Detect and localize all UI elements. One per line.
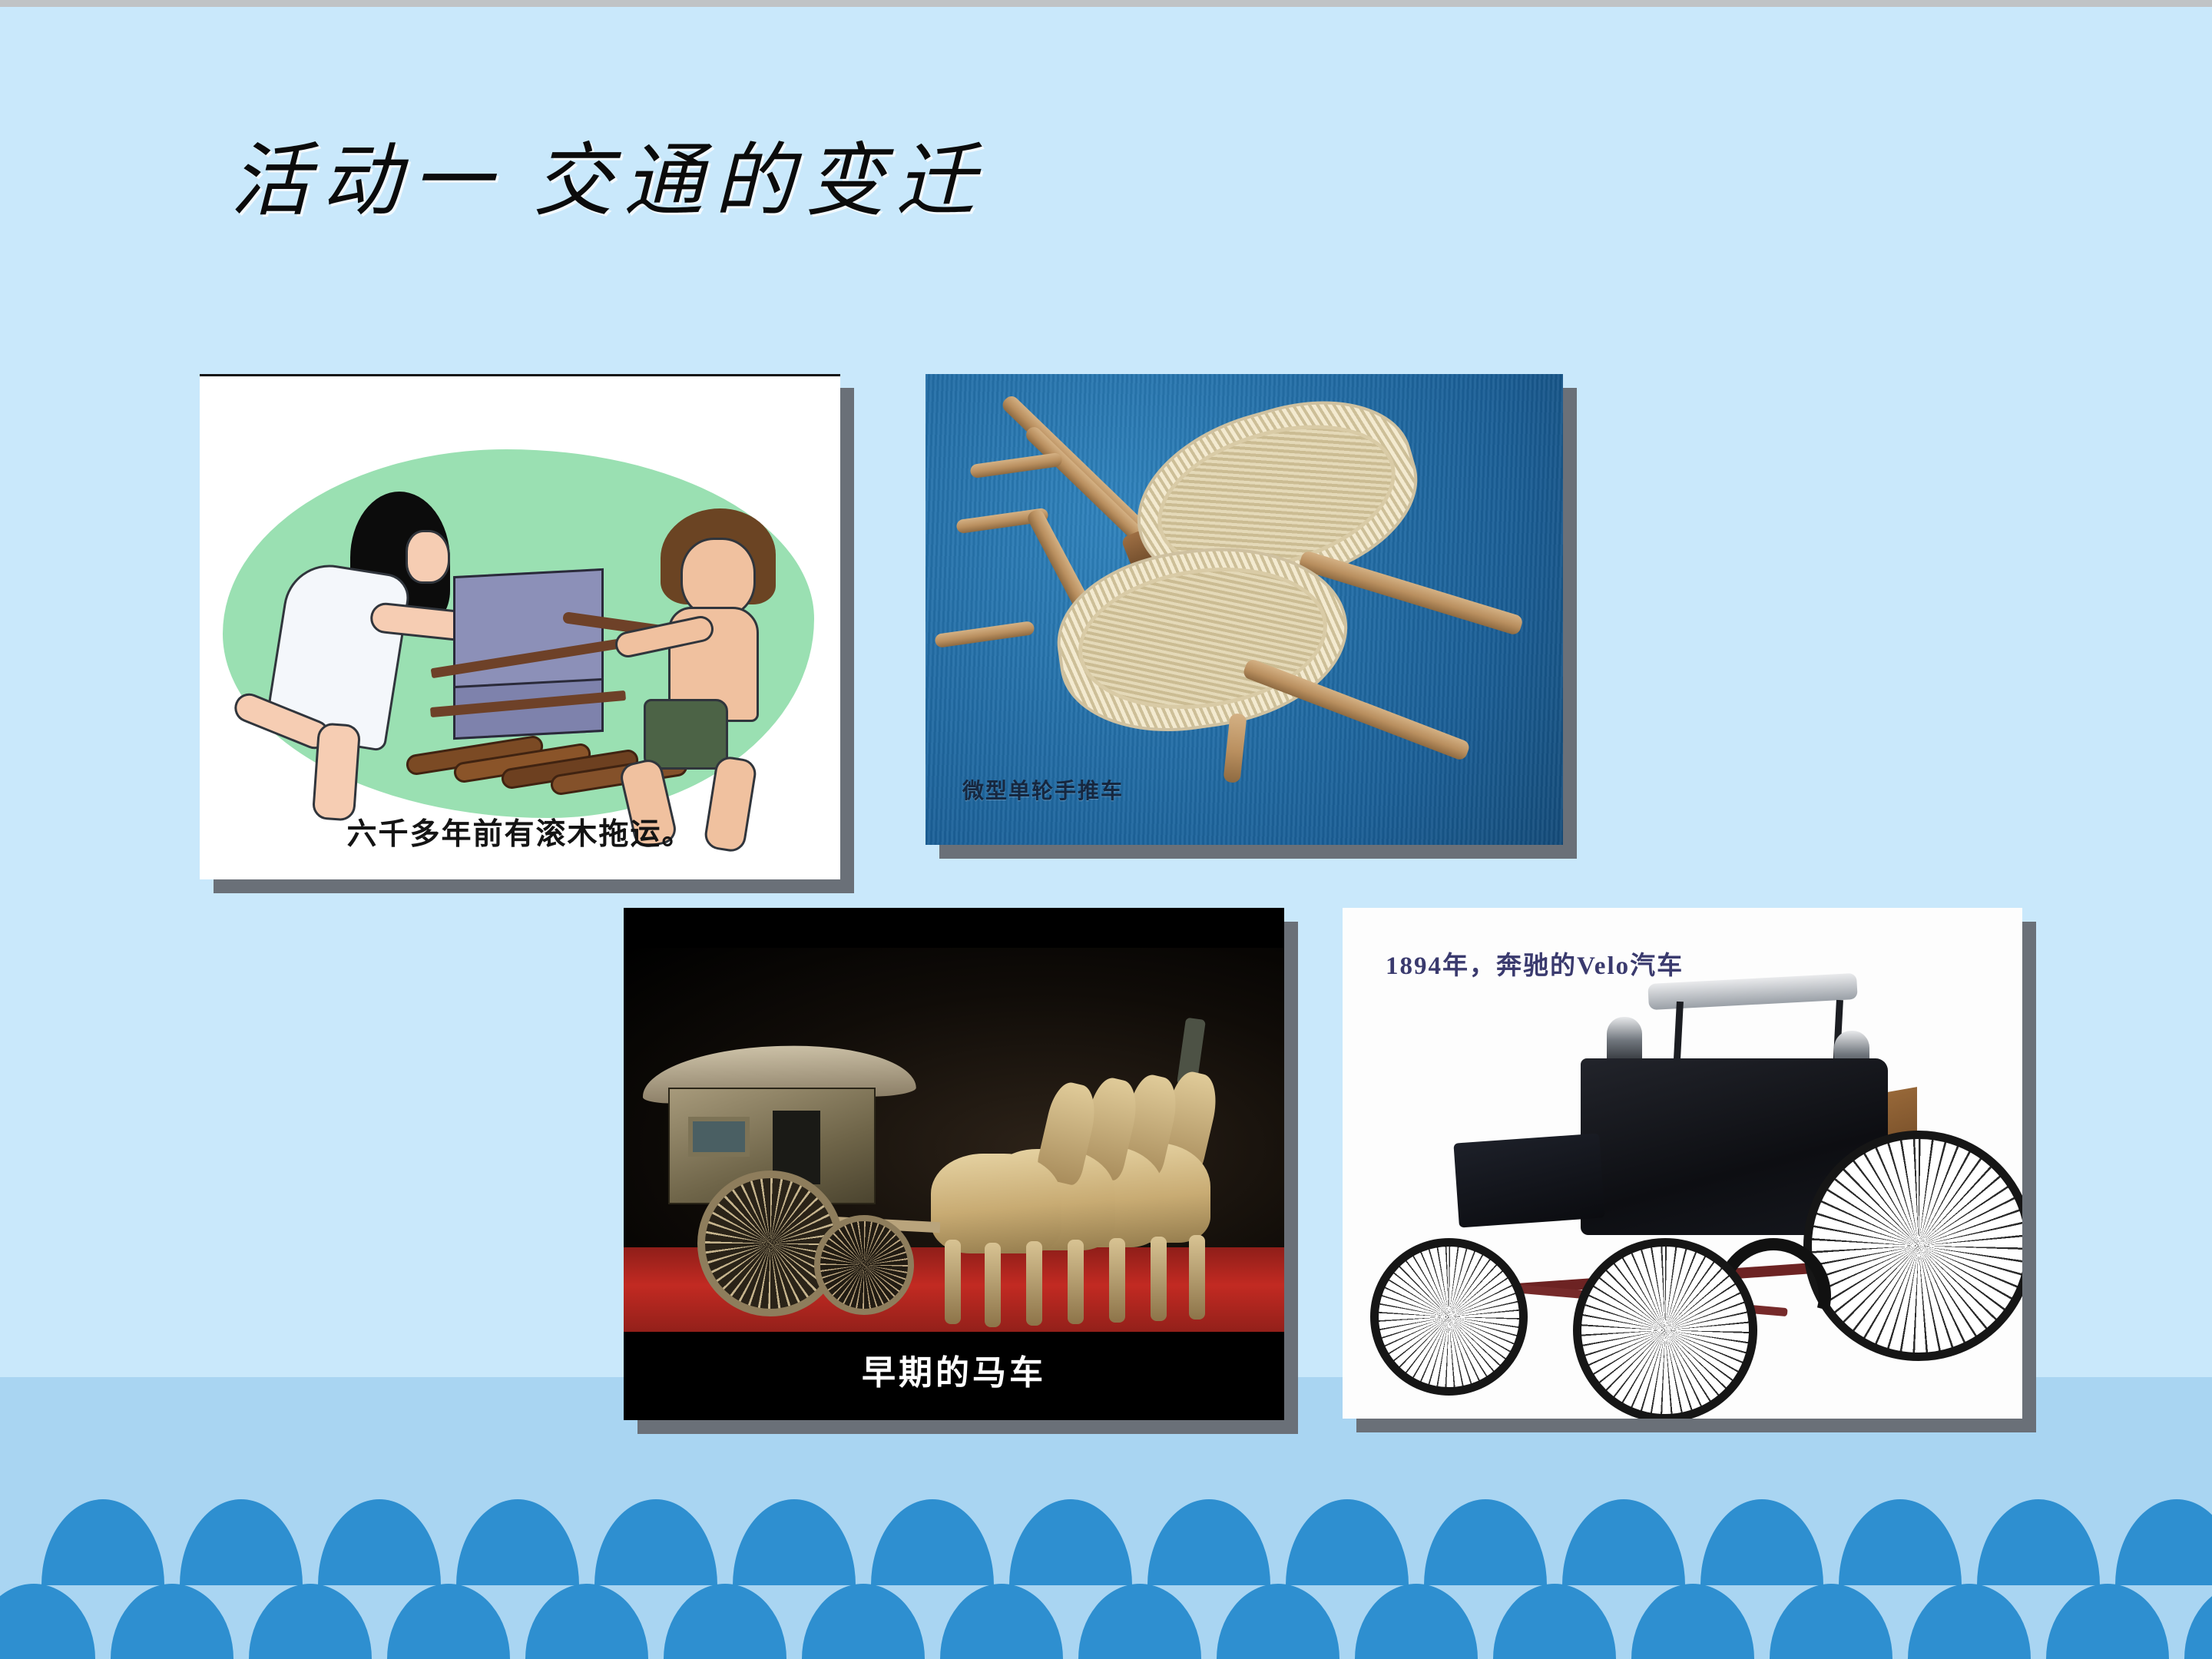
arch-shape [0,1584,95,1659]
card-caption-wheelbarrow: 微型单轮手推车 [962,774,1124,805]
arch-shape [1770,1584,1892,1659]
horse-leg [1151,1237,1167,1321]
arch-shape [871,1499,994,1585]
arch-shape [456,1499,579,1585]
arch-shape [1286,1499,1409,1585]
arch-shape [111,1584,233,1659]
arch-shape [1147,1499,1270,1585]
arch-shape [1424,1499,1547,1585]
arch-shape [1078,1584,1201,1659]
arch-shape [664,1584,786,1659]
horse-leg [985,1243,1001,1327]
arch-shape [1908,1584,2031,1659]
arch-shape [1493,1584,1616,1659]
arch-shape [1355,1584,1478,1659]
arch-shape [180,1499,303,1585]
arch-shape [802,1584,925,1659]
arch-shape [1839,1499,1962,1585]
horse-leg [1068,1240,1084,1324]
arch-shape [1562,1499,1685,1585]
stone-block-upper [453,568,604,691]
arch-shape [1631,1584,1754,1659]
velo-wheel-middle [1573,1238,1757,1419]
horse-leg [945,1240,961,1324]
arch-decoration-row-front [0,1584,2212,1659]
boy-face [680,538,756,618]
arch-shape [2115,1499,2212,1585]
arch-shape [940,1584,1063,1659]
chariot-photo-area [624,948,1284,1332]
velo-lamp [1607,1017,1642,1065]
photo-card-chariot[interactable]: 早期的马车 [624,908,1284,1420]
boy-skirt [644,699,728,770]
arch-shape [733,1499,856,1585]
horse-leg [1189,1235,1205,1320]
card-frame: 早期的马车 [624,908,1284,1420]
barrow-crossbar [934,621,1035,648]
woman-leg-front [312,722,362,822]
arch-shape [525,1584,648,1659]
arch-shape [387,1584,510,1659]
card-caption-rollers: 六千多年前有滚木拖运。 [200,810,840,853]
photo-card-wheelbarrow[interactable]: 微型单轮手推车 [926,374,1563,845]
velo-seat-back [1453,1134,1604,1228]
barrow-crossbar [969,452,1062,479]
slide-canvas: 活动一 交通的变迁 [0,0,2212,1659]
basket-weave [1069,552,1336,724]
horse-leg [1109,1238,1125,1323]
card-frame: 1894年，奔驰的Velo汽车 [1343,908,2022,1419]
arch-shape [41,1499,164,1585]
chariot-window [688,1117,750,1157]
photo-card-rollers[interactable]: 六千多年前有滚木拖运。 [200,374,840,879]
velo-wheel-front [1370,1238,1528,1396]
arch-shape [318,1499,441,1585]
arch-shape [1700,1499,1823,1585]
page-title: 活动一 交通的变迁 [230,115,986,231]
arch-shape [249,1584,372,1659]
card-frame: 微型单轮手推车 [926,374,1563,845]
arch-shape [1977,1499,2100,1585]
photo-card-velo[interactable]: 1894年，奔驰的Velo汽车 [1343,908,2022,1419]
arch-shape [2046,1584,2169,1659]
card-frame: 六千多年前有滚木拖运。 [200,374,840,879]
arch-shape [2184,1584,2212,1659]
card-caption-chariot: 早期的马车 [624,1345,1284,1394]
horse-body [931,1154,1061,1253]
woman-face [406,530,450,584]
arch-shape [1217,1584,1339,1659]
arch-decoration-row-back [0,1499,2212,1585]
arch-shape [1009,1499,1132,1585]
velo-wheel-rear [1803,1131,2022,1361]
chariot-wheel-small [814,1215,914,1315]
top-border-strip [0,0,2212,7]
card-caption-velo: 1894年，奔驰的Velo汽车 [1386,945,1684,982]
horse-leg [1026,1241,1042,1326]
arch-shape [594,1499,717,1585]
